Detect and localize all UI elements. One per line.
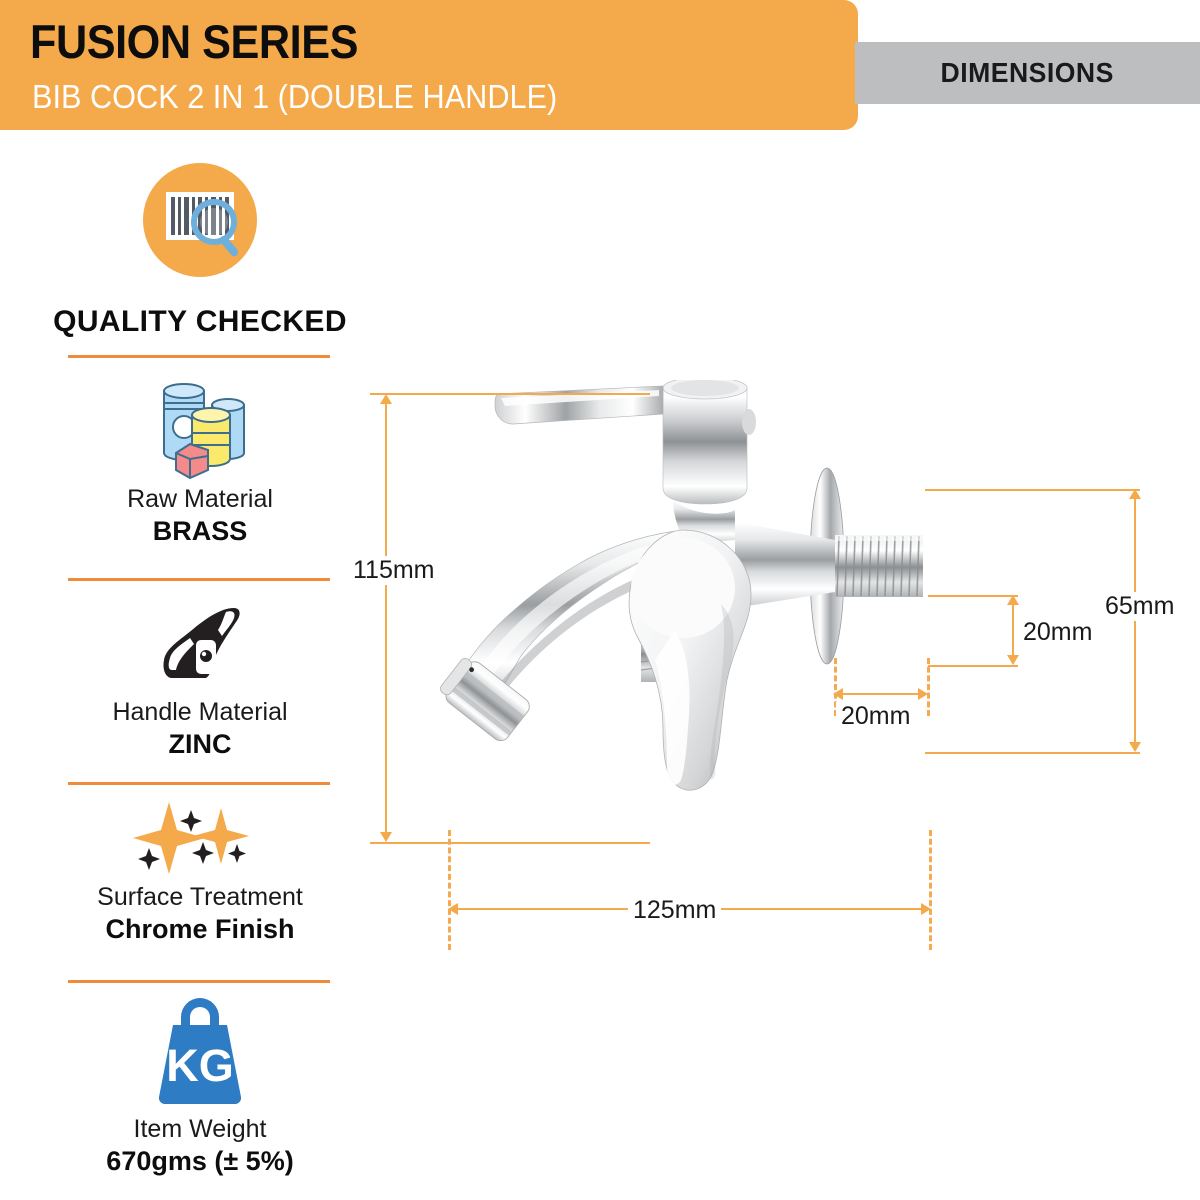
arrow-115-bottom xyxy=(380,832,392,842)
ext-line-bottom-115 xyxy=(370,842,650,844)
arrow-20d-bottom xyxy=(1007,655,1019,665)
dim-line-65 xyxy=(1134,492,1136,750)
dim-label-115mm: 115mm xyxy=(348,556,440,585)
divider-4 xyxy=(68,980,330,983)
arrow-65-top xyxy=(1129,489,1141,499)
arrow-20l-left xyxy=(833,688,843,700)
dimensions-label: DIMENSIONS xyxy=(941,57,1114,89)
arrow-125-right xyxy=(921,903,931,915)
dim-label-65mm: 65mm xyxy=(1100,592,1179,621)
paint-cans-icon xyxy=(140,375,260,480)
ext-line-top-20d xyxy=(928,595,1018,597)
product-title: BIB COCK 2 IN 1 (DOUBLE HANDLE) xyxy=(32,78,557,116)
arrow-115-top xyxy=(380,394,392,404)
dim-label-20mm-length: 20mm xyxy=(836,702,915,731)
arrow-20d-top xyxy=(1007,595,1019,605)
dimension-diagram: 115mm 125mm 65mm 20mm 20mm xyxy=(340,140,1200,1200)
faucet-handle-icon xyxy=(140,598,260,693)
divider-2 xyxy=(68,578,330,581)
dim-line-115 xyxy=(385,398,387,839)
ext-dash-right-20l xyxy=(927,658,930,716)
divider-3 xyxy=(68,782,330,785)
weight-kg-icon: KG xyxy=(145,995,255,1110)
dimensions-header-bar: DIMENSIONS xyxy=(855,42,1200,104)
bib-cock-faucet-image xyxy=(435,380,1055,860)
weight-icon-text: KG xyxy=(166,1040,234,1091)
divider-1 xyxy=(68,355,330,358)
barcode-scanner-icon xyxy=(140,160,260,280)
ext-dash-right-125 xyxy=(929,830,932,950)
dim-line-20l xyxy=(840,693,922,695)
dim-label-20mm-diameter: 20mm xyxy=(1018,618,1097,647)
dim-label-125mm: 125mm xyxy=(628,896,721,925)
dim-line-20d xyxy=(1012,598,1014,662)
arrow-65-bottom xyxy=(1129,742,1141,752)
sparkles-icon xyxy=(125,798,275,878)
ext-line-top-65 xyxy=(925,489,1140,491)
arrow-20l-right xyxy=(918,688,928,700)
ext-line-bottom-65 xyxy=(925,752,1140,754)
series-title: FUSION SERIES xyxy=(30,14,358,69)
ext-line-top-115 xyxy=(370,393,650,395)
ext-line-bottom-20d xyxy=(928,665,1018,667)
arrow-125-left xyxy=(448,903,458,915)
ext-dash-left-125 xyxy=(448,830,451,950)
